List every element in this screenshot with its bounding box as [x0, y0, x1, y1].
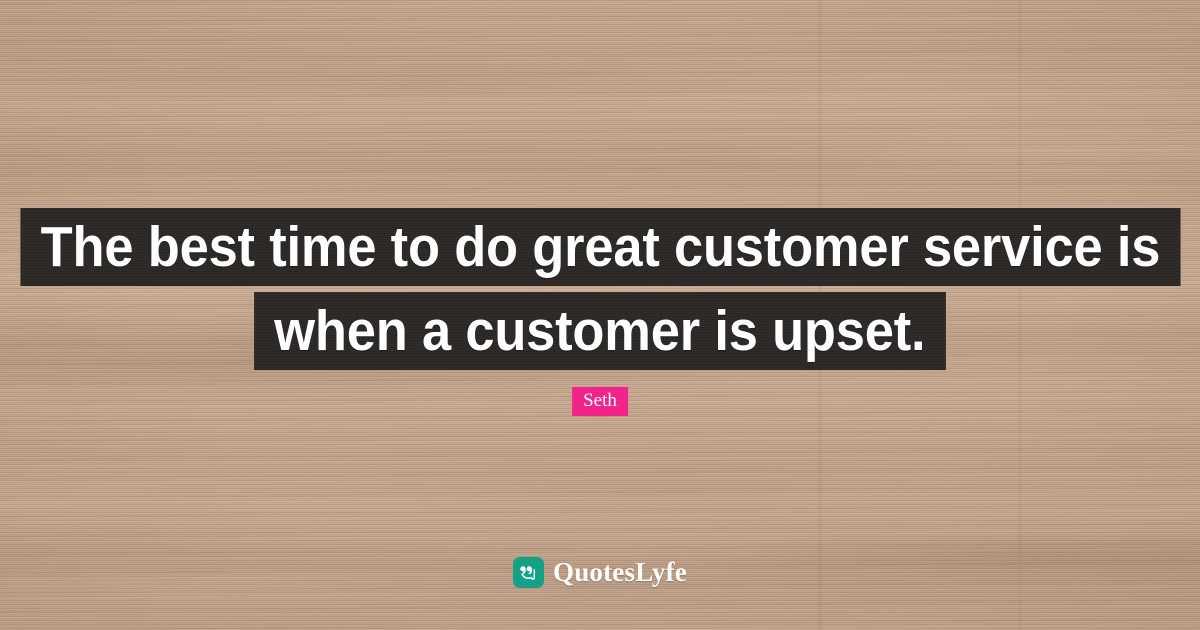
quote-mark-icon [513, 557, 544, 588]
quote-text-block: The best time to do great customer servi… [0, 208, 1200, 370]
brand-name: QuotesLyfe [553, 557, 687, 588]
quote-line-2: when a customer is upset. [254, 292, 946, 370]
quote-image-card: The best time to do great customer servi… [0, 0, 1200, 630]
quote-line-1: The best time to do great customer servi… [20, 208, 1180, 286]
card-content: The best time to do great customer servi… [0, 0, 1200, 630]
brand-logo[interactable]: QuotesLyfe [513, 557, 687, 588]
author-badge: Seth [572, 387, 628, 416]
